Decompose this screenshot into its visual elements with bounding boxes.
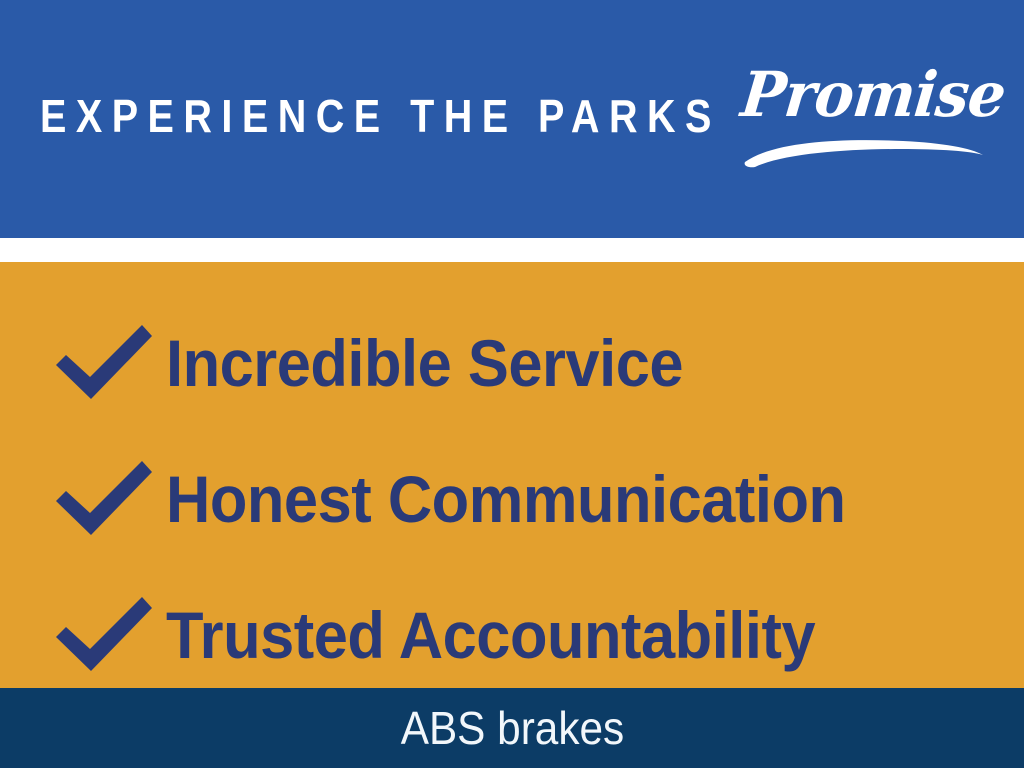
header-banner: EXPERIENCE THE PARKS Promise	[0, 0, 1024, 238]
promise-poster: EXPERIENCE THE PARKS Promise Incredible …	[0, 0, 1024, 768]
caption-text: ABS brakes	[400, 702, 623, 754]
script-swash-icon	[743, 138, 985, 168]
white-divider	[0, 238, 1024, 262]
promise-body-panel: Incredible Service Honest Communication …	[0, 262, 1024, 688]
headline-script-group: Promise	[715, 62, 995, 187]
list-item-label: Incredible Service	[166, 324, 683, 402]
checkmark-icon	[48, 453, 158, 545]
caption-bar: ABS brakes	[0, 688, 1024, 768]
checkmark-icon	[48, 589, 158, 681]
promise-list: Incredible Service Honest Communication …	[0, 262, 1024, 688]
list-item: Incredible Service	[48, 308, 1008, 418]
checkmark-icon	[48, 317, 158, 409]
list-item-label: Trusted Accountability	[166, 596, 815, 674]
list-item-label: Honest Communication	[166, 460, 846, 538]
headline-script-text: Promise	[738, 62, 1008, 128]
headline-main-text: EXPERIENCE THE PARKS	[40, 92, 721, 140]
list-item: Honest Communication	[48, 444, 1008, 554]
list-item: Trusted Accountability	[48, 580, 1008, 688]
